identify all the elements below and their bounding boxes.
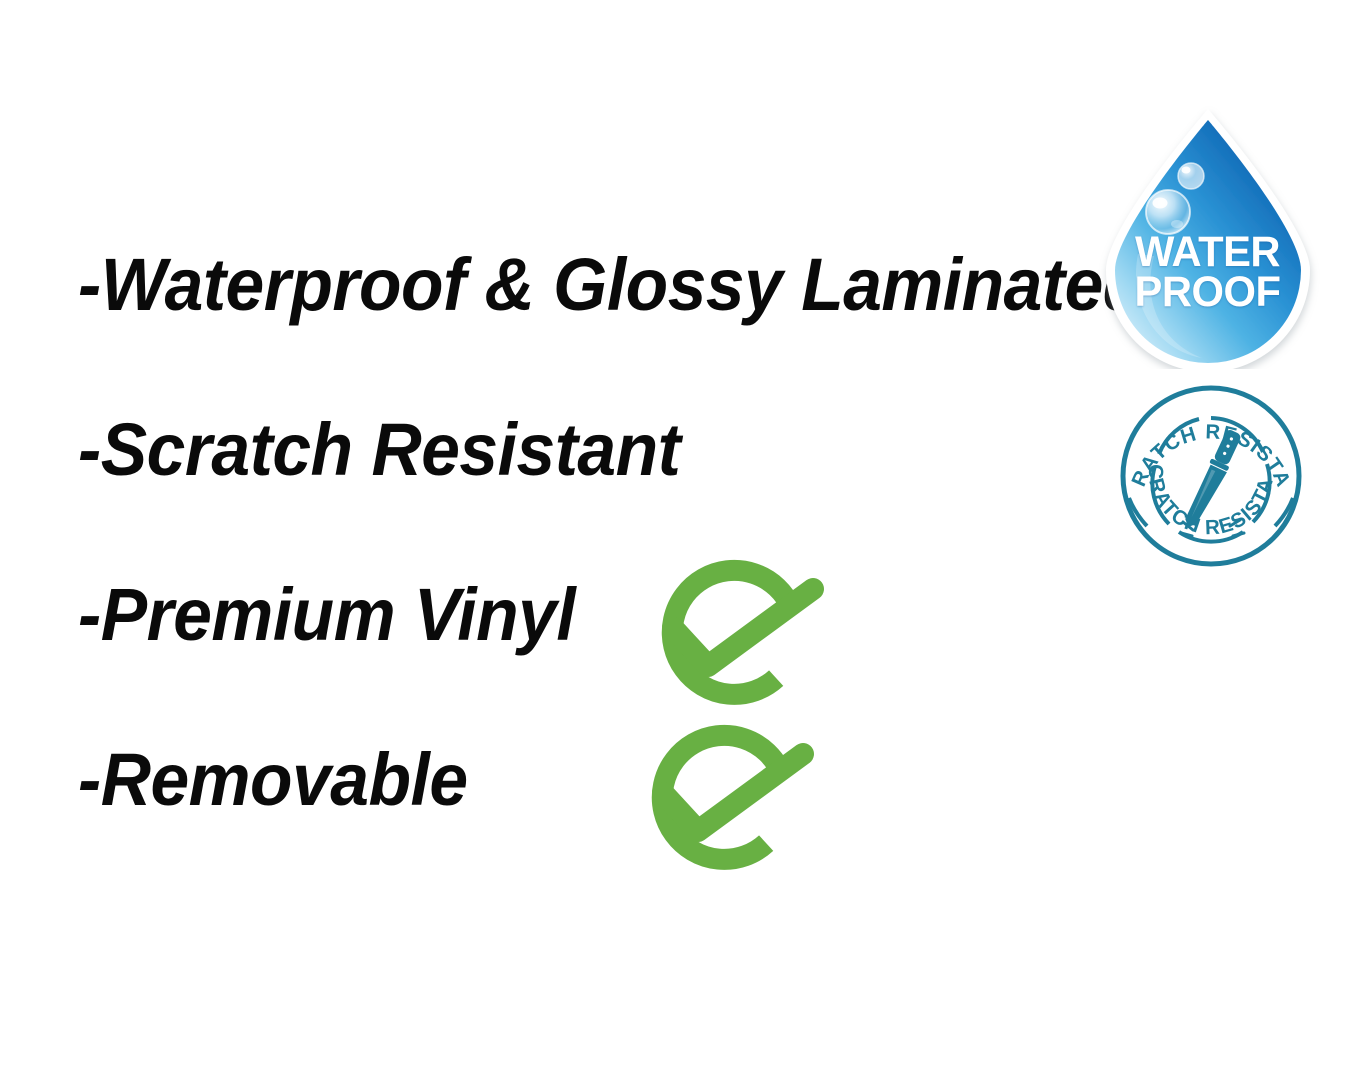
product-features-graphic: -Waterproof & Glossy Laminated -Scratch …: [0, 0, 1359, 1080]
feature-item-waterproof: -Waterproof & Glossy Laminated: [78, 246, 1098, 411]
feature-item-scratch-resistant: -Scratch Resistant: [78, 411, 1098, 576]
check-circle-icon-1: [633, 554, 838, 714]
feature-item-removable: -Removable: [78, 741, 1098, 906]
feature-list: -Waterproof & Glossy Laminated -Scratch …: [78, 246, 1098, 906]
waterproof-droplet-badge: WATER PROOF: [1098, 104, 1323, 369]
scratch-resistant-badge: SCRATCH RESISTANT SCRATCH RESISTANT: [1113, 380, 1309, 572]
feature-label-scratch-resistant: -Scratch Resistant: [78, 411, 680, 489]
droplet-shape: [1106, 109, 1310, 369]
feature-label-premium-vinyl: -Premium Vinyl: [78, 576, 575, 654]
feature-item-premium-vinyl: -Premium Vinyl: [78, 576, 1098, 741]
feature-label-waterproof: -Waterproof & Glossy Laminated: [78, 246, 1145, 324]
feature-label-removable: -Removable: [78, 741, 468, 819]
badge-text-top: SCRATCH RESISTANT: [1113, 380, 1295, 491]
check-circle-icon-2: [623, 719, 828, 879]
